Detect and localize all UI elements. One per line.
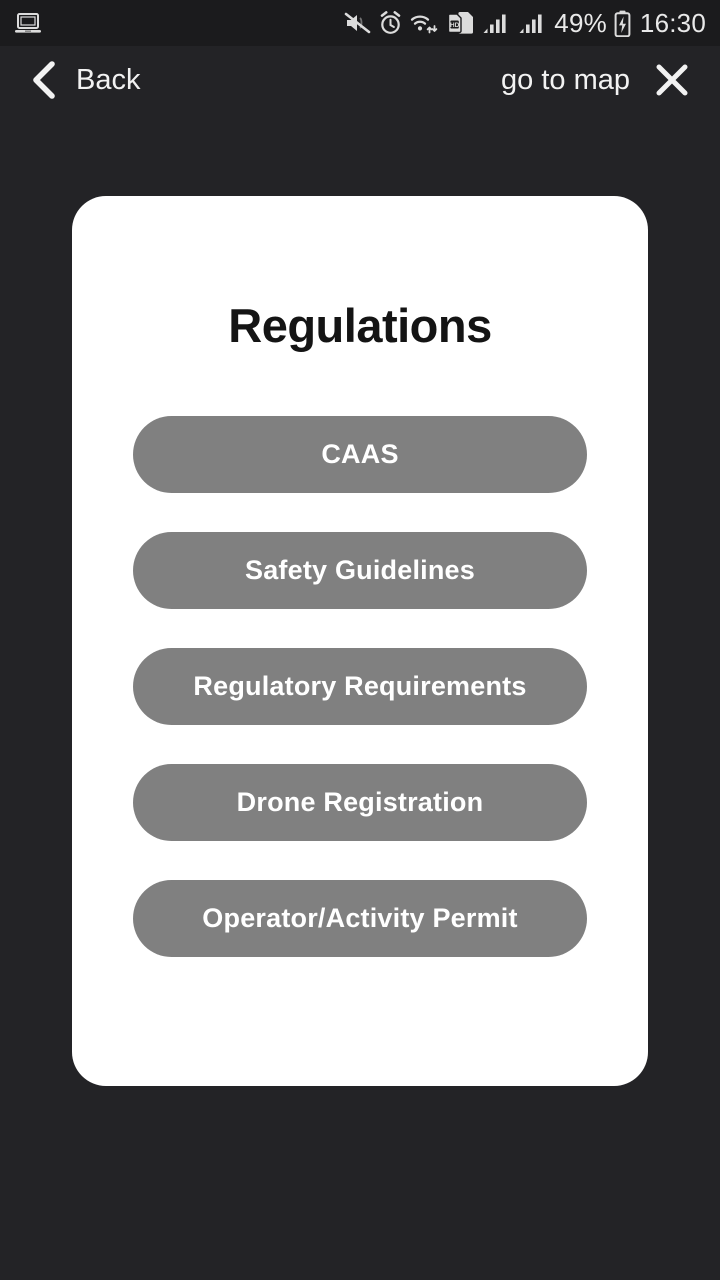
signal-bars-2-icon xyxy=(518,11,547,35)
regulation-button-safety-guidelines[interactable]: Safety Guidelines xyxy=(133,532,587,609)
svg-text:HD: HD xyxy=(450,22,460,29)
laptop-screencast-icon xyxy=(14,11,42,35)
nav-bar-right: go to map xyxy=(501,60,692,100)
back-label: Back xyxy=(76,66,140,95)
regulation-button-drone-registration[interactable]: Drone Registration xyxy=(133,764,587,841)
battery-charging-icon xyxy=(614,10,631,37)
regulation-button-caas[interactable]: CAAS xyxy=(133,416,587,493)
go-to-map-button[interactable]: go to map xyxy=(501,66,630,95)
status-bar: HD 49% xyxy=(0,0,720,46)
nav-bar: Back go to map xyxy=(0,46,720,114)
chevron-left-icon[interactable] xyxy=(28,59,60,101)
regulation-button-regulatory-requirements[interactable]: Regulatory Requirements xyxy=(133,648,587,725)
back-button[interactable]: Back xyxy=(28,59,140,101)
status-bar-right: HD 49% xyxy=(344,10,706,37)
battery-percent-label: 49% xyxy=(554,10,607,36)
signal-bars-1-icon xyxy=(482,11,511,35)
wifi-transfer-icon xyxy=(410,11,440,35)
dual-sim-hd-icon: HD xyxy=(447,11,475,35)
page-title: Regulations xyxy=(228,302,491,349)
regulation-button-operator-activity-permit[interactable]: Operator/Activity Permit xyxy=(133,880,587,957)
status-bar-left xyxy=(14,11,42,35)
clock-label: 16:30 xyxy=(640,10,706,36)
regulations-button-list: CAAS Safety Guidelines Regulatory Requir… xyxy=(72,416,648,957)
close-x-icon[interactable] xyxy=(652,60,692,100)
alarm-clock-icon xyxy=(378,11,403,36)
mute-icon xyxy=(344,11,371,35)
regulations-card: Regulations CAAS Safety Guidelines Regul… xyxy=(72,196,648,1086)
